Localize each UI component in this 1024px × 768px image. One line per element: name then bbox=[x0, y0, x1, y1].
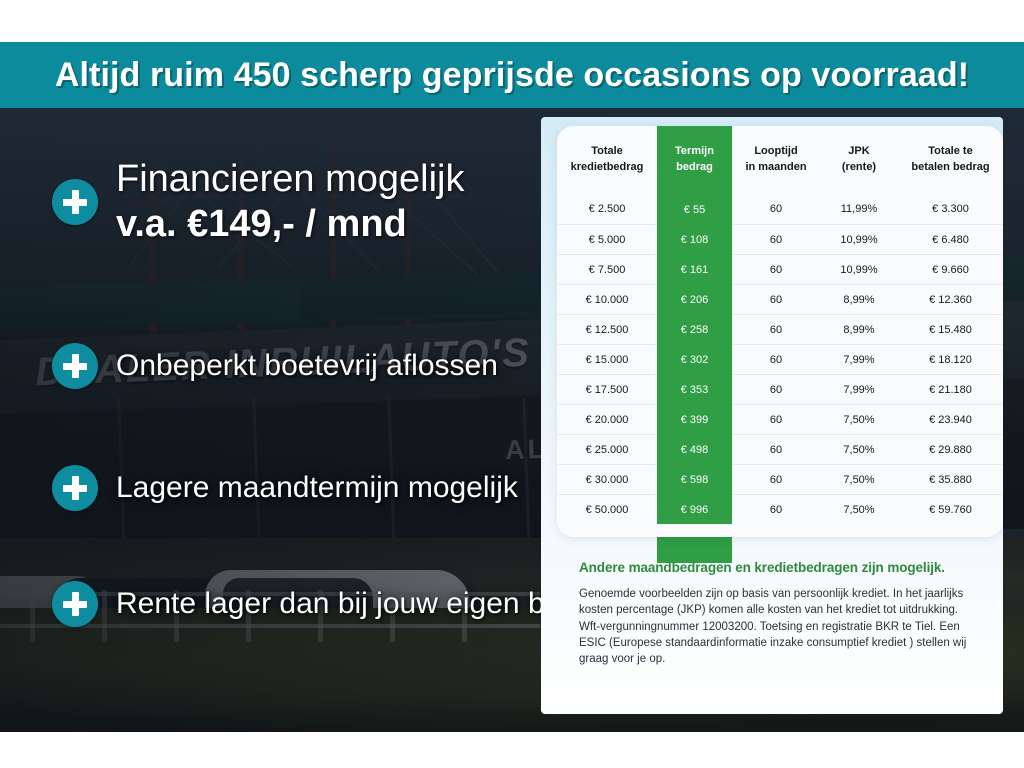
cell-jpk: 10,99% bbox=[820, 225, 898, 255]
header-line1: JPK bbox=[848, 145, 869, 157]
plus-icon bbox=[52, 465, 98, 511]
cell-kredietbedrag: € 12.500 bbox=[557, 315, 657, 345]
benefit-label-line2: v.a. €149,- / mnd bbox=[116, 203, 465, 246]
footnote-block: Andere maandbedragen en kredietbedragen … bbox=[579, 560, 979, 668]
cell-kredietbedrag: € 2.500 bbox=[557, 195, 657, 225]
cell-totale-te-betalen: € 12.360 bbox=[898, 285, 1003, 315]
rates-table-card: Totale kredietbedrag Termijn bedrag Loop… bbox=[557, 126, 1003, 537]
cell-totale-te-betalen: € 3.300 bbox=[898, 195, 1003, 225]
cell-kredietbedrag: € 15.000 bbox=[557, 345, 657, 375]
footnote-title: Andere maandbedragen en kredietbedragen … bbox=[579, 560, 979, 575]
headline-banner: Altijd ruim 450 scherp geprijsde occasio… bbox=[0, 42, 1024, 108]
cell-looptijd: 60 bbox=[732, 255, 820, 285]
header-line2: (rente) bbox=[842, 161, 876, 173]
page-bottom-margin bbox=[0, 732, 1024, 768]
cell-kredietbedrag: € 20.000 bbox=[557, 405, 657, 435]
cell-termijnbedrag: € 598 bbox=[657, 465, 732, 495]
cell-kredietbedrag: € 25.000 bbox=[557, 435, 657, 465]
cell-jpk: 8,99% bbox=[820, 315, 898, 345]
cell-looptijd: 60 bbox=[732, 465, 820, 495]
table-row: € 20.000 € 399 60 7,50% € 23.940 bbox=[557, 405, 1003, 435]
cell-looptijd: 60 bbox=[732, 225, 820, 255]
page-top-margin bbox=[0, 0, 1024, 42]
cell-termijnbedrag: € 55 bbox=[657, 195, 732, 225]
table-row: € 12.500 € 258 60 8,99% € 15.480 bbox=[557, 315, 1003, 345]
cell-termijnbedrag: € 399 bbox=[657, 405, 732, 435]
cell-totale-te-betalen: € 23.940 bbox=[898, 405, 1003, 435]
cell-termijnbedrag: € 108 bbox=[657, 225, 732, 255]
cell-totale-te-betalen: € 21.180 bbox=[898, 375, 1003, 405]
benefits-list: Financieren mogelijk v.a. €149,- / mnd O… bbox=[0, 120, 540, 720]
cell-totale-te-betalen: € 6.480 bbox=[898, 225, 1003, 255]
cell-termijnbedrag: € 161 bbox=[657, 255, 732, 285]
cell-jpk: 7,50% bbox=[820, 435, 898, 465]
cell-jpk: 7,50% bbox=[820, 495, 898, 525]
rates-table-head: Totale kredietbedrag Termijn bedrag Loop… bbox=[557, 126, 1003, 195]
cell-looptijd: 60 bbox=[732, 195, 820, 225]
header-line1: Totale te bbox=[928, 145, 972, 157]
finance-info-panel: Totale kredietbedrag Termijn bedrag Loop… bbox=[541, 117, 1003, 714]
benefit-label: Rente lager dan bij jouw eigen bank bbox=[116, 587, 593, 621]
cell-totale-te-betalen: € 29.880 bbox=[898, 435, 1003, 465]
table-row: € 10.000 € 206 60 8,99% € 12.360 bbox=[557, 285, 1003, 315]
cell-looptijd: 60 bbox=[732, 495, 820, 525]
header-line2: kredietbedrag bbox=[571, 161, 644, 173]
benefit-item-financieren: Financieren mogelijk v.a. €149,- / mnd bbox=[52, 158, 465, 245]
table-row: € 30.000 € 598 60 7,50% € 35.880 bbox=[557, 465, 1003, 495]
header-line2: in maanden bbox=[745, 161, 806, 173]
headline-text: Altijd ruim 450 scherp geprijsde occasio… bbox=[55, 56, 969, 95]
rates-table-body: € 2.500 € 55 60 11,99% € 3.300 € 5.000 €… bbox=[557, 195, 1003, 525]
benefit-label: Lagere maandtermijn mogelijk bbox=[116, 471, 518, 505]
column-header-looptijd: Looptijd in maanden bbox=[732, 126, 820, 195]
benefit-text-stack: Financieren mogelijk v.a. €149,- / mnd bbox=[116, 158, 465, 245]
column-header-totale-te-betalen: Totale te betalen bedrag bbox=[898, 126, 1003, 195]
rates-table: Totale kredietbedrag Termijn bedrag Loop… bbox=[557, 126, 1003, 524]
cell-termijnbedrag: € 302 bbox=[657, 345, 732, 375]
column-header-totale-kredietbedrag: Totale kredietbedrag bbox=[557, 126, 657, 195]
table-row: € 25.000 € 498 60 7,50% € 29.880 bbox=[557, 435, 1003, 465]
cell-looptijd: 60 bbox=[732, 375, 820, 405]
cell-looptijd: 60 bbox=[732, 315, 820, 345]
table-row: € 17.500 € 353 60 7,99% € 21.180 bbox=[557, 375, 1003, 405]
header-line2: bedrag bbox=[676, 161, 713, 173]
benefit-item-boetevrij-aflossen: Onbeperkt boetevrij aflossen bbox=[52, 343, 498, 389]
header-line1: Totale bbox=[591, 145, 623, 157]
table-row: € 2.500 € 55 60 11,99% € 3.300 bbox=[557, 195, 1003, 225]
table-header-row: Totale kredietbedrag Termijn bedrag Loop… bbox=[557, 126, 1003, 195]
cell-looptijd: 60 bbox=[732, 405, 820, 435]
cell-kredietbedrag: € 5.000 bbox=[557, 225, 657, 255]
cell-jpk: 7,50% bbox=[820, 465, 898, 495]
table-row: € 5.000 € 108 60 10,99% € 6.480 bbox=[557, 225, 1003, 255]
cell-jpk: 7,99% bbox=[820, 345, 898, 375]
cell-jpk: 7,99% bbox=[820, 375, 898, 405]
cell-termijnbedrag: € 206 bbox=[657, 285, 732, 315]
benefit-label-line1: Financieren mogelijk bbox=[116, 158, 465, 201]
cell-termijnbedrag: € 996 bbox=[657, 495, 732, 525]
benefit-item-lagere-maandtermijn: Lagere maandtermijn mogelijk bbox=[52, 465, 518, 511]
cell-termijnbedrag: € 353 bbox=[657, 375, 732, 405]
plus-icon bbox=[52, 343, 98, 389]
cell-kredietbedrag: € 7.500 bbox=[557, 255, 657, 285]
column-header-jpk: JPK (rente) bbox=[820, 126, 898, 195]
cell-looptijd: 60 bbox=[732, 345, 820, 375]
cell-jpk: 8,99% bbox=[820, 285, 898, 315]
cell-looptijd: 60 bbox=[732, 435, 820, 465]
header-line2: betalen bedrag bbox=[911, 161, 989, 173]
table-row: € 50.000 € 996 60 7,50% € 59.760 bbox=[557, 495, 1003, 525]
cell-looptijd: 60 bbox=[732, 285, 820, 315]
cell-kredietbedrag: € 50.000 bbox=[557, 495, 657, 525]
footnote-body: Genoemde voorbeelden zijn op basis van p… bbox=[579, 586, 979, 668]
cell-kredietbedrag: € 30.000 bbox=[557, 465, 657, 495]
benefit-label: Onbeperkt boetevrij aflossen bbox=[116, 349, 498, 383]
cell-jpk: 10,99% bbox=[820, 255, 898, 285]
cell-totale-te-betalen: € 15.480 bbox=[898, 315, 1003, 345]
cell-jpk: 7,50% bbox=[820, 405, 898, 435]
cell-totale-te-betalen: € 59.760 bbox=[898, 495, 1003, 525]
cell-jpk: 11,99% bbox=[820, 195, 898, 225]
cell-totale-te-betalen: € 18.120 bbox=[898, 345, 1003, 375]
header-line1: Termijn bbox=[675, 145, 714, 157]
benefit-item-rente-lager: Rente lager dan bij jouw eigen bank bbox=[52, 581, 593, 627]
cell-kredietbedrag: € 17.500 bbox=[557, 375, 657, 405]
cell-totale-te-betalen: € 9.660 bbox=[898, 255, 1003, 285]
header-line1: Looptijd bbox=[754, 145, 797, 157]
table-row: € 7.500 € 161 60 10,99% € 9.660 bbox=[557, 255, 1003, 285]
column-header-termijn-bedrag: Termijn bedrag bbox=[657, 126, 732, 195]
plus-icon bbox=[52, 179, 98, 225]
advertisement-banner: DEALER INRUILAUTO'S JOHAN MEURE ALTIJD 4… bbox=[0, 0, 1024, 768]
table-row: € 15.000 € 302 60 7,99% € 18.120 bbox=[557, 345, 1003, 375]
cell-totale-te-betalen: € 35.880 bbox=[898, 465, 1003, 495]
cell-termijnbedrag: € 498 bbox=[657, 435, 732, 465]
cell-kredietbedrag: € 10.000 bbox=[557, 285, 657, 315]
cell-termijnbedrag: € 258 bbox=[657, 315, 732, 345]
plus-icon bbox=[52, 581, 98, 627]
